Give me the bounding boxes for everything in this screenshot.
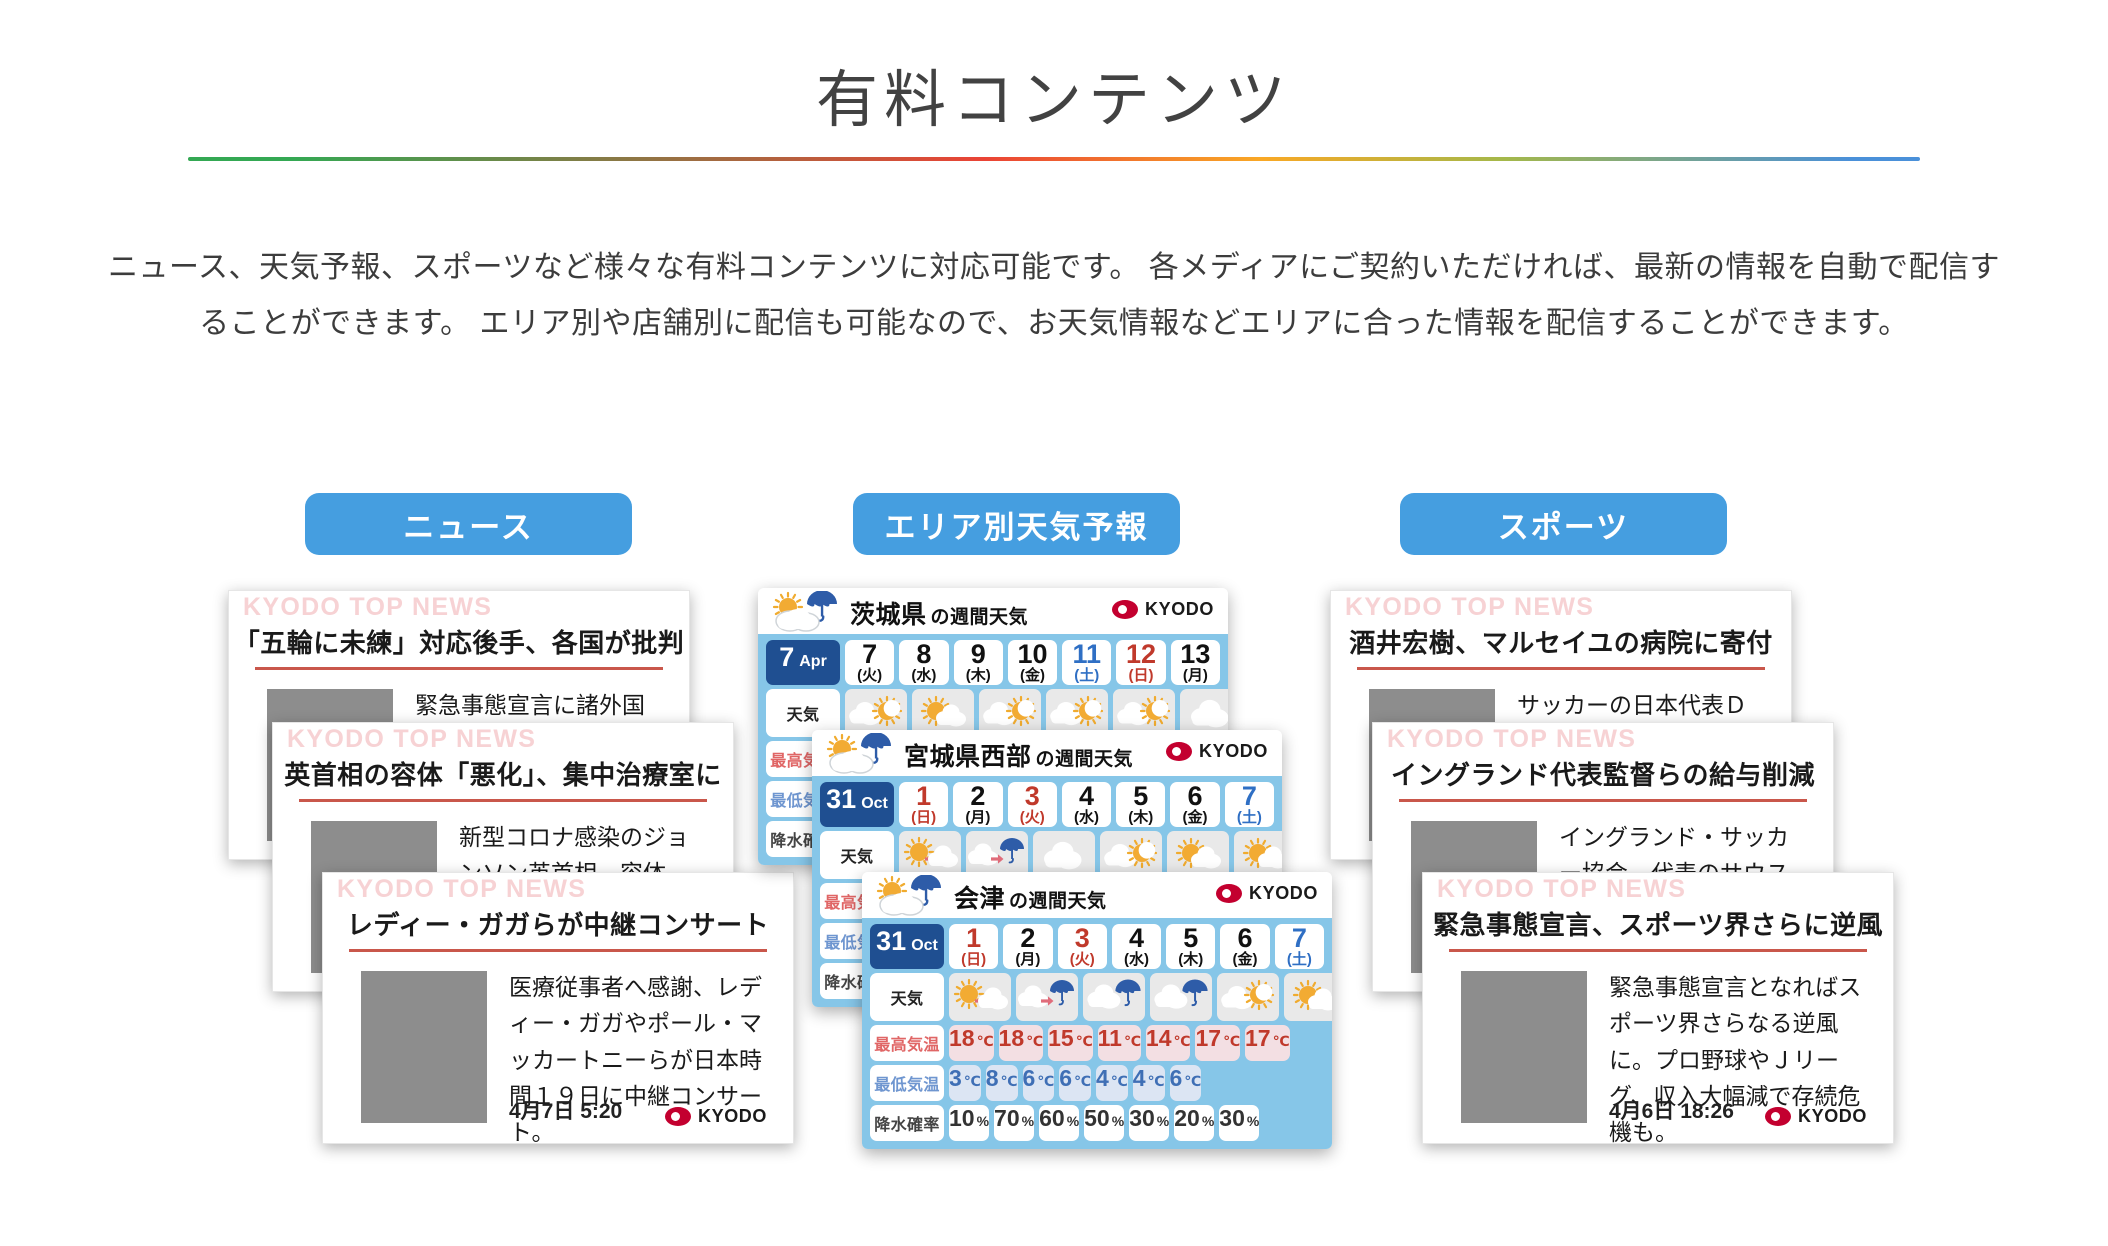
weather-badge-day: 31	[876, 928, 906, 955]
weather-card-header: 宮城県西部の週間天気 KYODO	[812, 730, 1282, 776]
kyodo-watermark: KYODO TOP NEWS	[243, 593, 492, 622]
kyodo-logo-wrap: KYODO	[1166, 741, 1268, 762]
kyodo-logo-text: KYODO	[698, 1106, 767, 1127]
headline-rule	[349, 949, 767, 952]
weather-low-temp: 4℃	[1096, 1065, 1128, 1101]
row-label-precip: 降水確率	[870, 1105, 944, 1141]
weather-date-badge: 31 Oct	[870, 924, 944, 969]
weather-day-number: 2	[970, 782, 985, 810]
intro-line-1: ニュース、天気予報、スポーツなど様々な有料コンテンツに対応可能です。 各メディア…	[46, 240, 2062, 296]
sports-thumbnail	[1461, 971, 1587, 1123]
weather-badge-day: 31	[826, 786, 856, 813]
weather-day-of-week: (土)	[1237, 810, 1262, 827]
kyodo-logo-text: KYODO	[1798, 1106, 1867, 1127]
weather-high-temp: 18℃	[949, 1025, 994, 1061]
weather-high-row: 最高気温18℃18℃15℃11℃14℃17℃17℃	[870, 1025, 1324, 1061]
weather-card-title: 茨城県の週間天気	[850, 595, 1028, 631]
weather-day-of-week: (土)	[1074, 668, 1099, 685]
weather-day-of-week: (水)	[1074, 810, 1099, 827]
news-headline: レディー・ガガらが中継コンサート	[323, 905, 793, 942]
weather-icon-sun-then-cloud	[949, 973, 1011, 1021]
weather-icon-cloud-rain	[1150, 973, 1212, 1021]
weather-badge-month: Oct	[861, 796, 888, 812]
kyodo-logo: KYODO	[1112, 599, 1214, 620]
row-label-weather: 天気	[870, 973, 944, 1021]
weather-precip-chance: 50%	[1084, 1105, 1124, 1141]
weather-precip-chance: 60%	[1039, 1105, 1079, 1141]
kyodo-logo: KYODO	[1166, 741, 1268, 762]
row-label-high: 最高気温	[870, 1025, 944, 1061]
weather-day-header: 8 (水)	[899, 640, 948, 685]
page-title: 有料コンテンツ	[0, 64, 2108, 138]
weather-day-header: 10 (金)	[1008, 640, 1057, 685]
weather-grid: 31 Oct 1 (日) 2 (月) 3 (火) 4 (水) 5 (木) 6 (…	[862, 918, 1332, 1149]
weather-day-of-week: (日)	[961, 952, 986, 969]
weather-date-badge: 7 Apr	[766, 640, 840, 685]
sports-timestamp: 4月6日 18:26	[1609, 1095, 1734, 1125]
weather-low-temp: 6℃	[1170, 1065, 1202, 1101]
weather-low-temp: 6℃	[1023, 1065, 1055, 1101]
intro-paragraph: ニュース、天気予報、スポーツなど様々な有料コンテンツに対応可能です。 各メディア…	[46, 240, 2062, 351]
weather-day-of-week: (金)	[1233, 952, 1258, 969]
kyodo-logo-text: KYODO	[1249, 883, 1318, 904]
kyodo-mark-icon	[1112, 600, 1138, 619]
sports-card[interactable]: KYODO TOP NEWS 緊急事態宣言、スポーツ界さらに逆風 緊急事態宣言と…	[1422, 872, 1894, 1144]
weather-card-title: 会津の週間天気	[954, 879, 1107, 915]
weather-day-header: 3 (火)	[1058, 924, 1107, 969]
weather-low-temp: 6℃	[1059, 1065, 1091, 1101]
sports-headline: 酒井宏樹、マルセイユの病院に寄付	[1331, 623, 1791, 660]
kyodo-watermark: KYODO TOP NEWS	[1387, 725, 1636, 754]
weather-precip-chance: 70%	[994, 1105, 1034, 1141]
weather-high-temp: 11℃	[1098, 1025, 1141, 1061]
weather-high-temp: 17℃	[1245, 1025, 1290, 1061]
weather-day-number: 7	[862, 640, 877, 668]
news-headline: 英首相の容体「悪化」、集中治療室に	[273, 755, 733, 792]
weather-day-header: 4 (水)	[1112, 924, 1161, 969]
weather-day-of-week: (金)	[1020, 668, 1045, 685]
weather-day-header: 13 (月)	[1171, 640, 1220, 685]
weather-card-header: 会津の週間天気 KYODO	[862, 872, 1332, 918]
weather-day-number: 5	[1183, 924, 1198, 952]
weather-precip-chance: 30%	[1219, 1105, 1259, 1141]
weather-low-temp: 8℃	[986, 1065, 1018, 1101]
news-thumbnail	[361, 971, 487, 1123]
slide-root: 有料コンテンツ ニュース、天気予報、スポーツなど様々な有料コンテンツに対応可能で…	[0, 0, 2108, 1246]
kyodo-logo: KYODO	[1216, 883, 1318, 904]
weather-day-of-week: (日)	[911, 810, 936, 827]
sun-cloud-umbrella-icon	[820, 733, 898, 777]
weather-badge-day: 7	[779, 644, 794, 671]
weather-day-number: 6	[1238, 924, 1253, 952]
headline-rule	[1357, 667, 1765, 670]
weather-icon-cloud-sun	[1217, 973, 1279, 1021]
weather-day-number: 6	[1188, 782, 1203, 810]
weather-day-of-week: (火)	[1020, 810, 1045, 827]
weather-badge-month: Apr	[799, 654, 827, 670]
gradient-divider	[188, 157, 1920, 161]
weather-day-header: 7 (土)	[1225, 782, 1274, 827]
weather-day-number: 13	[1180, 640, 1210, 668]
kyodo-logo-text: KYODO	[1199, 741, 1268, 762]
weather-icon-cloud-rain	[1083, 973, 1145, 1021]
weather-day-header: 5 (木)	[1166, 924, 1215, 969]
weather-day-number: 7	[1242, 782, 1257, 810]
kyodo-logo: KYODO	[1765, 1106, 1867, 1127]
kyodo-watermark: KYODO TOP NEWS	[1437, 875, 1686, 904]
weather-badge-month: Oct	[911, 938, 938, 954]
weather-day-number: 5	[1133, 782, 1148, 810]
weather-card-header: 茨城県の週間天気 KYODO	[758, 588, 1228, 634]
weather-day-of-week: (木)	[966, 668, 991, 685]
weather-card-title: 宮城県西部の週間天気	[904, 737, 1133, 773]
weather-day-number: 3	[1025, 782, 1040, 810]
category-pill-sports[interactable]: スポーツ	[1400, 493, 1727, 555]
headline-rule	[1399, 799, 1807, 802]
weather-day-header: 7 (土)	[1275, 924, 1324, 969]
sports-headline: イングランド代表監督らの給与削減	[1373, 755, 1833, 792]
weather-low-row: 最低気温3℃8℃6℃6℃4℃4℃6℃	[870, 1065, 1324, 1101]
kyodo-mark-icon	[1765, 1107, 1791, 1126]
weather-day-number: 4	[1079, 782, 1094, 810]
weather-day-header: 1 (日)	[949, 924, 998, 969]
weather-day-header: 5 (木)	[1116, 782, 1165, 827]
weather-day-number: 1	[966, 924, 981, 952]
category-pill-news[interactable]: ニュース	[305, 493, 632, 555]
weather-day-of-week: (土)	[1287, 952, 1312, 969]
weather-day-of-week: (水)	[1124, 952, 1149, 969]
weather-day-header: 2 (月)	[953, 782, 1002, 827]
weather-day-number: 11	[1072, 640, 1101, 668]
weather-low-temp: 3℃	[949, 1065, 981, 1101]
weather-day-of-week: (月)	[1183, 668, 1208, 685]
sun-cloud-umbrella-icon	[870, 875, 948, 919]
weather-high-temp: 15℃	[1048, 1025, 1093, 1061]
weather-day-of-week: (火)	[1070, 952, 1095, 969]
news-headline: 「五輪に未練」対応後手、各国が批判	[229, 623, 689, 660]
weather-card-title-suffix: の週間天気	[931, 607, 1029, 628]
intro-line-2: ることができます。 エリア別や店舗別に配信も可能なので、お天気情報などエリアに合…	[46, 296, 2062, 352]
sports-headline: 緊急事態宣言、スポーツ界さらに逆風	[1423, 905, 1893, 942]
weather-day-of-week: (水)	[911, 668, 936, 685]
weather-day-of-week: (火)	[857, 668, 882, 685]
kyodo-mark-icon	[1166, 742, 1192, 761]
weather-day-header: 7 (火)	[845, 640, 894, 685]
weather-day-number: 12	[1126, 640, 1156, 668]
weather-card-title-suffix: の週間天気	[1036, 749, 1134, 770]
weather-high-temp: 17℃	[1195, 1025, 1240, 1061]
weather-icon-cloud-then-rain	[1016, 973, 1078, 1021]
weather-date-badge: 31 Oct	[820, 782, 894, 827]
kyodo-logo: KYODO	[665, 1106, 767, 1127]
weather-day-number: 3	[1075, 924, 1090, 952]
kyodo-watermark: KYODO TOP NEWS	[1345, 593, 1594, 622]
kyodo-logo-text: KYODO	[1145, 599, 1214, 620]
headline-rule	[299, 799, 707, 802]
kyodo-mark-icon	[665, 1107, 691, 1126]
news-card[interactable]: KYODO TOP NEWS レディー・ガガらが中継コンサート 医療従事者へ感謝…	[322, 872, 794, 1144]
weather-day-number: 4	[1129, 924, 1144, 952]
weather-header-row: 31 Oct 1 (日) 2 (月) 3 (火) 4 (水) 5 (木) 6 (…	[870, 924, 1324, 969]
weather-day-header: 6 (金)	[1220, 924, 1269, 969]
weather-day-number: 7	[1292, 924, 1307, 952]
weather-day-header: 12 (日)	[1116, 640, 1165, 685]
weather-day-number: 1	[916, 782, 931, 810]
kyodo-logo-wrap: KYODO	[1216, 883, 1318, 904]
kyodo-watermark: KYODO TOP NEWS	[287, 725, 536, 754]
news-timestamp: 4月7日 5:20	[509, 1095, 622, 1125]
weather-day-header: 6 (金)	[1170, 782, 1219, 827]
weather-day-header: 11 (土)	[1062, 640, 1111, 685]
weather-header-row: 31 Oct 1 (日) 2 (月) 3 (火) 4 (水) 5 (木) 6 (…	[820, 782, 1274, 827]
weather-precip-chance: 10%	[949, 1105, 989, 1141]
weather-high-temp: 18℃	[999, 1025, 1044, 1061]
headline-rule	[255, 667, 663, 670]
weather-low-temp: 4℃	[1133, 1065, 1165, 1101]
row-label-low: 最低気温	[870, 1065, 944, 1101]
weather-precip-row: 降水確率10%70%60%50%30%20%30%	[870, 1105, 1324, 1141]
weather-day-number: 9	[971, 640, 986, 668]
weather-day-header: 4 (水)	[1062, 782, 1111, 827]
sun-cloud-umbrella-icon	[766, 591, 844, 635]
weather-header-row: 7 Apr 7 (火) 8 (水) 9 (木) 10 (金) 11 (土) 12…	[766, 640, 1220, 685]
weather-icon-sun-cloud	[1284, 973, 1332, 1021]
weather-day-of-week: (木)	[1178, 952, 1203, 969]
headline-rule	[1449, 949, 1867, 952]
weather-condition-row: 天気	[870, 973, 1324, 1021]
weather-day-of-week: (木)	[1128, 810, 1153, 827]
category-pill-weather[interactable]: エリア別天気予報	[853, 493, 1180, 555]
weather-day-of-week: (月)	[965, 810, 990, 827]
weather-day-header: 3 (火)	[1008, 782, 1057, 827]
weather-card-title-suffix: の週間天気	[1009, 891, 1107, 912]
weather-day-of-week: (日)	[1129, 668, 1154, 685]
weather-day-of-week: (金)	[1183, 810, 1208, 827]
weather-day-number: 10	[1017, 640, 1047, 668]
weather-card[interactable]: 会津の週間天気 KYODO 31 Oct 1 (日) 2 (月) 3 (火)	[862, 872, 1332, 1149]
weather-precip-chance: 20%	[1174, 1105, 1214, 1141]
weather-day-of-week: (月)	[1015, 952, 1040, 969]
kyodo-watermark: KYODO TOP NEWS	[337, 875, 586, 904]
weather-high-temp: 14℃	[1146, 1025, 1191, 1061]
weather-day-number: 2	[1020, 924, 1035, 952]
weather-day-header: 2 (月)	[1003, 924, 1052, 969]
weather-day-number: 8	[916, 640, 931, 668]
kyodo-logo-wrap: KYODO	[1112, 599, 1214, 620]
weather-day-header: 9 (木)	[954, 640, 1003, 685]
weather-precip-chance: 30%	[1129, 1105, 1169, 1141]
kyodo-mark-icon	[1216, 884, 1242, 903]
weather-day-header: 1 (日)	[899, 782, 948, 827]
